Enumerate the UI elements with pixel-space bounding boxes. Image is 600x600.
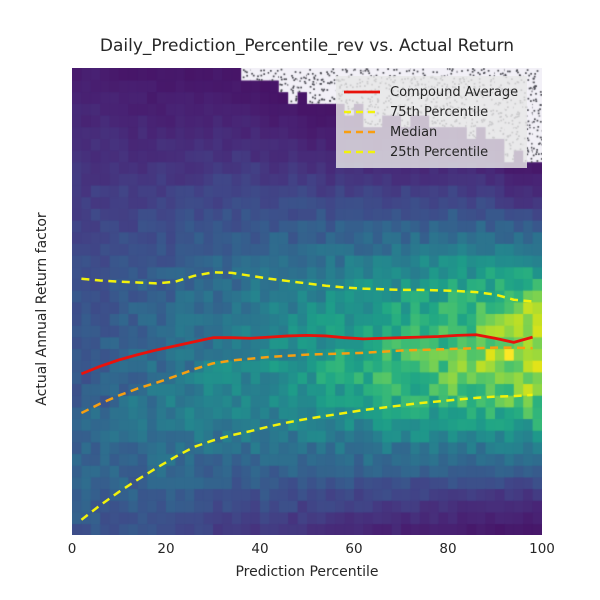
legend-swatch-line-icon [343, 85, 381, 99]
legend: Compound Average 75th Percentile Median … [336, 76, 527, 168]
legend-label: Median [390, 125, 437, 140]
y-axis-label: Actual Annual Return factor [34, 99, 50, 519]
figure: Daily_Prediction_Percentile_rev vs. Actu… [0, 0, 600, 600]
x-axis-label: Prediction Percentile [72, 564, 542, 580]
page-title: Daily_Prediction_Percentile_rev vs. Actu… [72, 36, 542, 56]
legend-item: Compound Average [343, 82, 518, 102]
x-tick-label: 40 [230, 541, 290, 557]
legend-swatch-line-icon [343, 125, 381, 139]
legend-item: 25th Percentile [343, 142, 518, 162]
x-tick-label: 60 [324, 541, 384, 557]
legend-label: 25th Percentile [390, 145, 488, 160]
x-tick-label: 100 [512, 541, 572, 557]
legend-swatch-line-icon [343, 105, 381, 119]
x-tick-label: 0 [42, 541, 102, 557]
legend-swatch-line-icon [343, 145, 381, 159]
legend-label: Compound Average [390, 85, 518, 100]
x-tick-label: 20 [136, 541, 196, 557]
x-tick-label: 80 [418, 541, 478, 557]
legend-item: Median [343, 122, 518, 142]
legend-item: 75th Percentile [343, 102, 518, 122]
legend-label: 75th Percentile [390, 105, 488, 120]
